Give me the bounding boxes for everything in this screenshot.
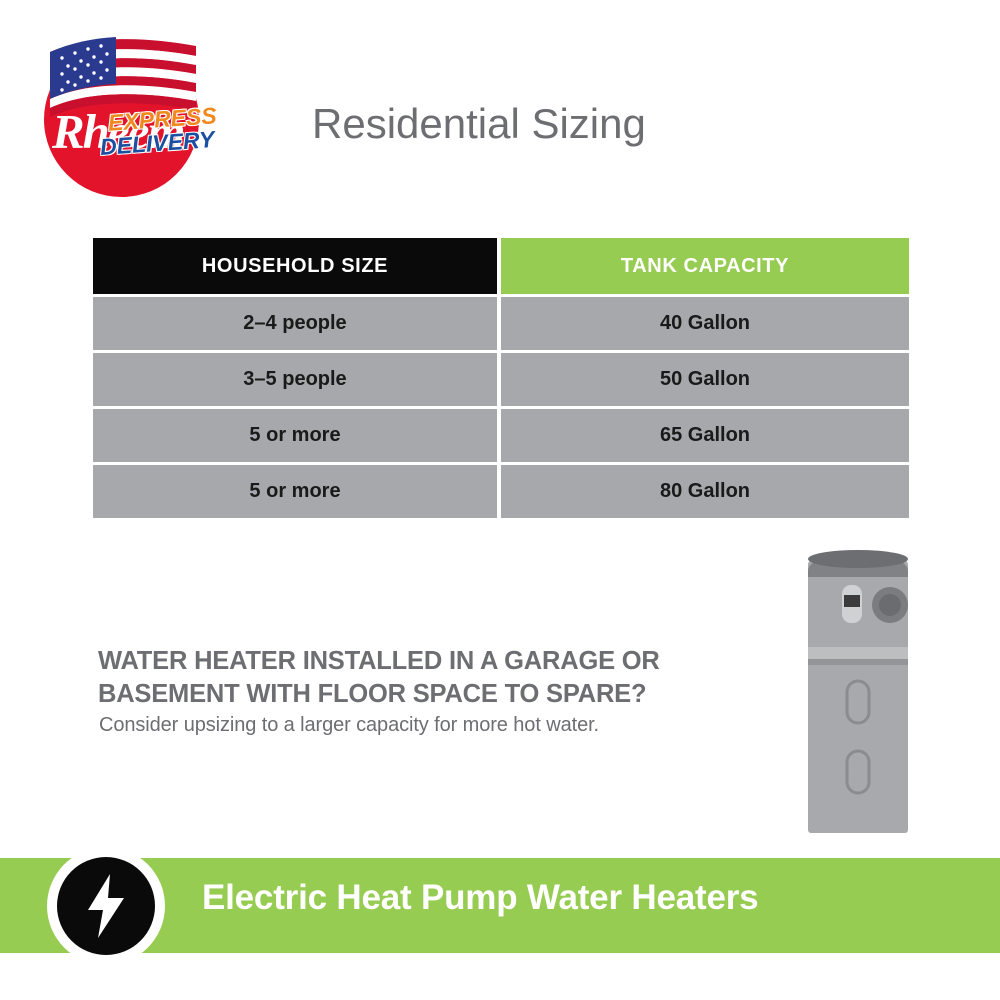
residential-sizing-table: HOUSEHOLD SIZE TANK CAPACITY 2–4 people … (93, 238, 909, 518)
cell-household-size: 3–5 people (93, 350, 501, 406)
callout-headline: WATER HEATER INSTALLED IN A GARAGE OR BA… (98, 645, 758, 710)
cell-tank-capacity: 80 Gallon (501, 462, 909, 518)
brand-logo: Rheem ® (22, 22, 232, 197)
logo-registered-mark: ® (190, 160, 199, 174)
column-header-household-size: HOUSEHOLD SIZE (93, 238, 501, 294)
table-row: 5 or more 65 Gallon (93, 406, 909, 462)
lightning-bolt-icon (84, 874, 128, 938)
cell-household-size: 5 or more (93, 406, 501, 462)
cell-tank-capacity: 50 Gallon (501, 350, 909, 406)
column-header-tank-capacity: TANK CAPACITY (501, 238, 909, 294)
infographic-page: Rheem ® (0, 0, 1000, 1000)
table-row: 2–4 people 40 Gallon (93, 294, 909, 350)
cell-household-size: 2–4 people (93, 294, 501, 350)
table-header-row: HOUSEHOLD SIZE TANK CAPACITY (93, 238, 909, 294)
callout-subtext: Consider upsizing to a larger capacity f… (99, 714, 779, 737)
heat-pump-water-heater-illustration (806, 543, 936, 835)
footer-title: Electric Heat Pump Water Heaters (202, 878, 758, 918)
cell-household-size: 5 or more (93, 462, 501, 518)
table-row: 3–5 people 50 Gallon (93, 350, 909, 406)
cell-tank-capacity: 40 Gallon (501, 294, 909, 350)
cell-tank-capacity: 65 Gallon (501, 406, 909, 462)
table-row: 5 or more 80 Gallon (93, 462, 909, 518)
page-title: Residential Sizing (312, 100, 646, 148)
